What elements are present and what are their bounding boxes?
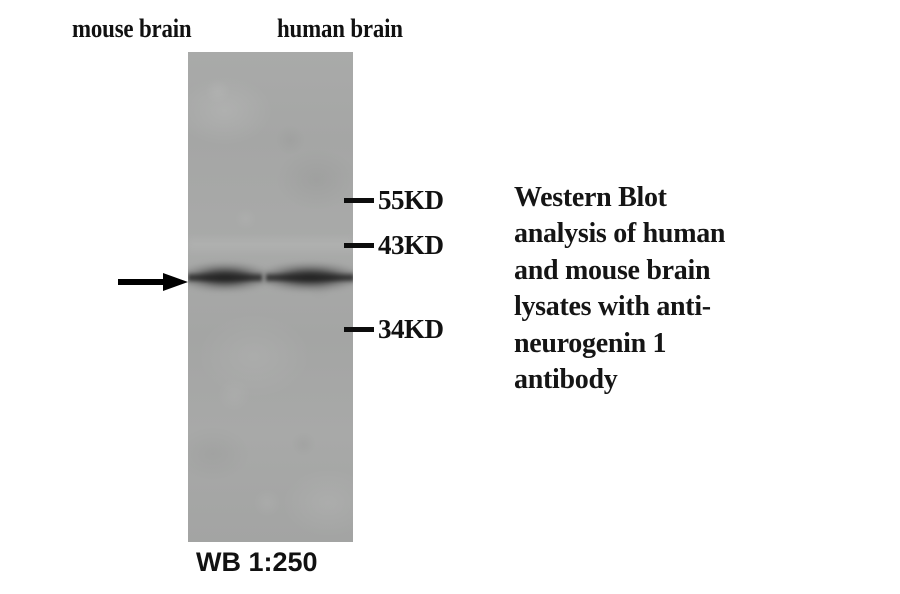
caption-line: antibody (514, 362, 844, 398)
mw-marker-label: 43KD (378, 232, 444, 259)
protein-band-core-human-lane (266, 272, 353, 283)
lane-header-mouse-brain: mouse brain (72, 16, 191, 42)
mw-marker-43kd: 43KD (344, 231, 444, 259)
mw-dash-icon (344, 243, 374, 248)
caption-line: Western Blot (514, 180, 844, 216)
figure-caption: Western Blot analysis of human and mouse… (514, 180, 844, 398)
membrane-grain-texture (188, 52, 353, 542)
caption-line: and mouse brain (514, 253, 844, 289)
caption-line: analysis of human (514, 216, 844, 252)
caption-line: lysates with anti- (514, 289, 844, 325)
caption-line: neurogenin 1 (514, 326, 844, 362)
mw-marker-label: 34KD (378, 316, 444, 343)
mw-dash-icon (344, 198, 374, 203)
lane-header-human-brain: human brain (277, 16, 403, 42)
protein-band-core-mouse-lane (188, 272, 262, 283)
mw-marker-55kd: 55KD (344, 186, 444, 214)
mw-dash-icon (344, 327, 374, 332)
band-pointer-arrow-icon (118, 272, 188, 292)
dilution-label: WB 1:250 (196, 549, 318, 576)
western-blot-figure: mouse brain human brain 55KD 43KD 34KD W… (0, 0, 900, 594)
faint-upper-smear (188, 234, 353, 256)
mw-marker-label: 55KD (378, 187, 444, 214)
mw-marker-34kd: 34KD (344, 315, 444, 343)
blot-membrane (188, 52, 353, 542)
